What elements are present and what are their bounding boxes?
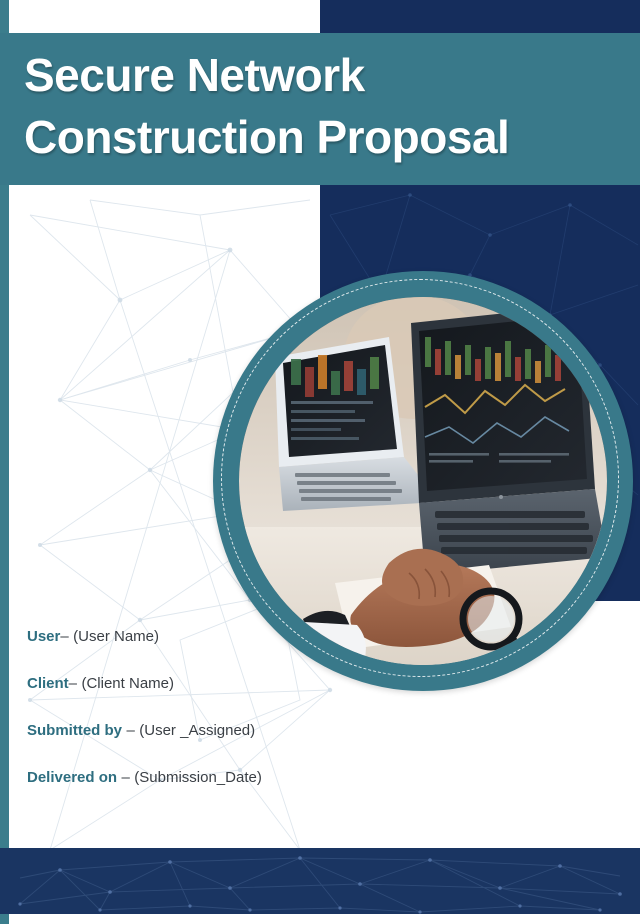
meta-row-client: Client– (Client Name)	[27, 675, 367, 693]
meta-label-delivered-on: Delivered on	[27, 769, 117, 786]
page-title-line-2: Construction Proposal	[24, 106, 624, 168]
meta-value-delivered-on: (Submission_Date)	[134, 769, 262, 786]
meta-label-submitted-by: Submitted by	[27, 722, 122, 739]
meta-separator-submitted-by: –	[126, 722, 134, 739]
footer-network-pattern	[0, 848, 640, 914]
laptops-workspace-illustration	[239, 297, 607, 665]
proposal-cover-page: Secure Network Construction Proposal	[0, 0, 640, 924]
proposal-meta-list: User– (User Name) Client– (Client Name) …	[27, 628, 367, 787]
meta-value-user: (User Name)	[73, 628, 159, 645]
meta-label-client: Client	[27, 675, 69, 692]
meta-row-submitted-by: Submitted by – (User _Assigned)	[27, 722, 367, 740]
footer-band	[0, 848, 640, 914]
page-title-line-1: Secure Network	[24, 44, 624, 106]
meta-row-delivered-on: Delivered on – (Submission_Date)	[27, 769, 367, 787]
meta-separator-delivered-on: –	[121, 769, 129, 786]
top-right-navy-block	[320, 0, 640, 34]
meta-row-user: User– (User Name)	[27, 628, 367, 646]
hero-photo-image	[239, 297, 607, 665]
meta-value-client: (Client Name)	[81, 675, 174, 692]
meta-separator-user: –	[60, 628, 68, 645]
meta-value-submitted-by: (User _Assigned)	[139, 722, 255, 739]
page-title: Secure Network Construction Proposal	[24, 44, 624, 168]
meta-label-user: User	[27, 628, 60, 645]
meta-separator-client: –	[69, 675, 77, 692]
